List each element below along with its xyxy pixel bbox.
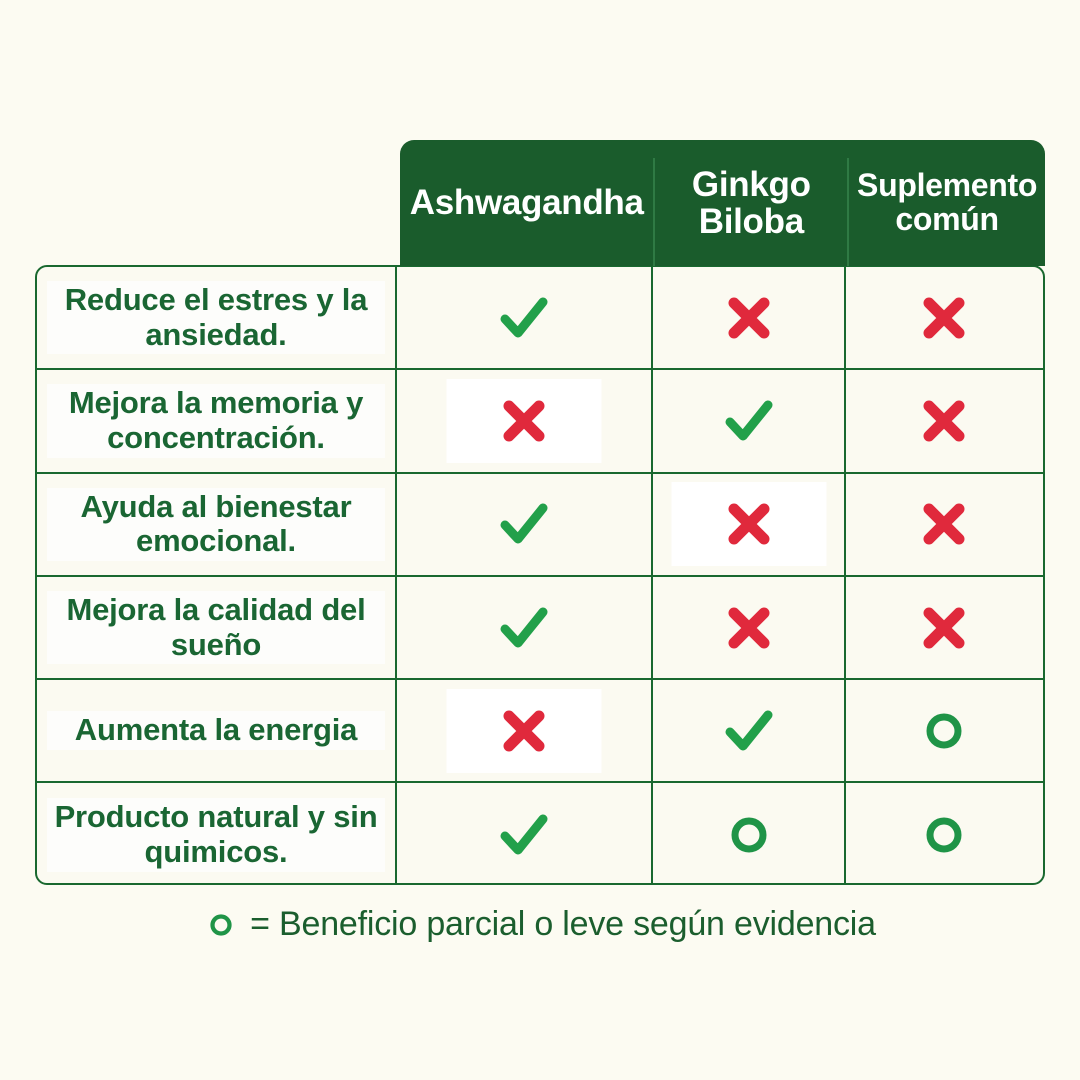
benefit-label: Mejora la calidad del sueño bbox=[47, 591, 385, 664]
benefit-label: Reduce el estres y la ansiedad. bbox=[47, 281, 385, 354]
benefit-label: Producto natural y sin quimicos. bbox=[47, 798, 385, 871]
ring-icon bbox=[204, 908, 238, 942]
column-header-ashwagandha: Ashwagandha bbox=[400, 140, 653, 266]
cell-comun bbox=[846, 680, 1041, 781]
check-icon bbox=[721, 703, 777, 759]
cell-ashwagandha bbox=[397, 680, 653, 781]
comparison-table: Reduce el estres y la ansiedad.Mejora la… bbox=[35, 265, 1045, 885]
comparison-infographic: Ashwagandha Ginkgo Biloba Suplemento com… bbox=[0, 0, 1080, 1080]
benefit-label-cell: Reduce el estres y la ansiedad. bbox=[37, 267, 397, 368]
cell-comun bbox=[846, 474, 1041, 575]
cell-ginkgo bbox=[653, 680, 846, 781]
cross-icon bbox=[916, 393, 972, 449]
cell-ginkgo bbox=[653, 474, 846, 575]
benefit-label-cell: Aumenta la energia bbox=[37, 680, 397, 781]
table-row: Aumenta la energia bbox=[37, 680, 1043, 783]
cross-icon bbox=[916, 290, 972, 346]
cross-icon bbox=[721, 290, 777, 346]
benefit-label: Mejora la memoria y concentración. bbox=[47, 384, 385, 457]
ring-icon bbox=[721, 807, 777, 863]
cell-ashwagandha bbox=[397, 577, 653, 678]
cell-comun bbox=[846, 783, 1041, 885]
cell-ashwagandha bbox=[397, 783, 653, 885]
table-row: Reduce el estres y la ansiedad. bbox=[37, 267, 1043, 370]
benefit-label-cell: Ayuda al bienestar emocional. bbox=[37, 474, 397, 575]
benefit-label-cell: Mejora la calidad del sueño bbox=[37, 577, 397, 678]
cell-ginkgo bbox=[653, 577, 846, 678]
benefit-label: Ayuda al bienestar emocional. bbox=[47, 488, 385, 561]
column-header-suplemento-comun: Suplemento común bbox=[849, 140, 1045, 266]
benefit-label-cell: Mejora la memoria y concentración. bbox=[37, 370, 397, 471]
table-row: Producto natural y sin quimicos. bbox=[37, 783, 1043, 885]
check-icon bbox=[496, 807, 552, 863]
legend: = Beneficio parcial o leve según evidenc… bbox=[0, 905, 1080, 944]
check-icon bbox=[496, 496, 552, 552]
ring-icon bbox=[916, 807, 972, 863]
ring-icon bbox=[916, 703, 972, 759]
check-icon bbox=[496, 600, 552, 656]
cell-ashwagandha bbox=[397, 267, 653, 368]
cell-comun bbox=[846, 577, 1041, 678]
cell-ashwagandha bbox=[397, 370, 653, 471]
cross-icon bbox=[721, 496, 777, 552]
cell-ginkgo bbox=[653, 783, 846, 885]
cross-icon bbox=[721, 600, 777, 656]
cell-ashwagandha bbox=[397, 474, 653, 575]
cross-icon bbox=[496, 393, 552, 449]
check-icon bbox=[496, 290, 552, 346]
cross-icon bbox=[916, 600, 972, 656]
table-row: Ayuda al bienestar emocional. bbox=[37, 474, 1043, 577]
cross-icon bbox=[496, 703, 552, 759]
benefit-label: Aumenta la energia bbox=[47, 711, 385, 750]
table-header: Ashwagandha Ginkgo Biloba Suplemento com… bbox=[400, 140, 1045, 266]
cell-ginkgo bbox=[653, 370, 846, 471]
cross-icon bbox=[916, 496, 972, 552]
table-row: Mejora la memoria y concentración. bbox=[37, 370, 1043, 473]
cell-comun bbox=[846, 267, 1041, 368]
check-icon bbox=[721, 393, 777, 449]
cell-comun bbox=[846, 370, 1041, 471]
benefit-label-cell: Producto natural y sin quimicos. bbox=[37, 783, 397, 885]
table-row: Mejora la calidad del sueño bbox=[37, 577, 1043, 680]
cell-ginkgo bbox=[653, 267, 846, 368]
column-header-ginkgo-biloba: Ginkgo Biloba bbox=[655, 140, 847, 266]
legend-text: = Beneficio parcial o leve según evidenc… bbox=[250, 905, 876, 944]
